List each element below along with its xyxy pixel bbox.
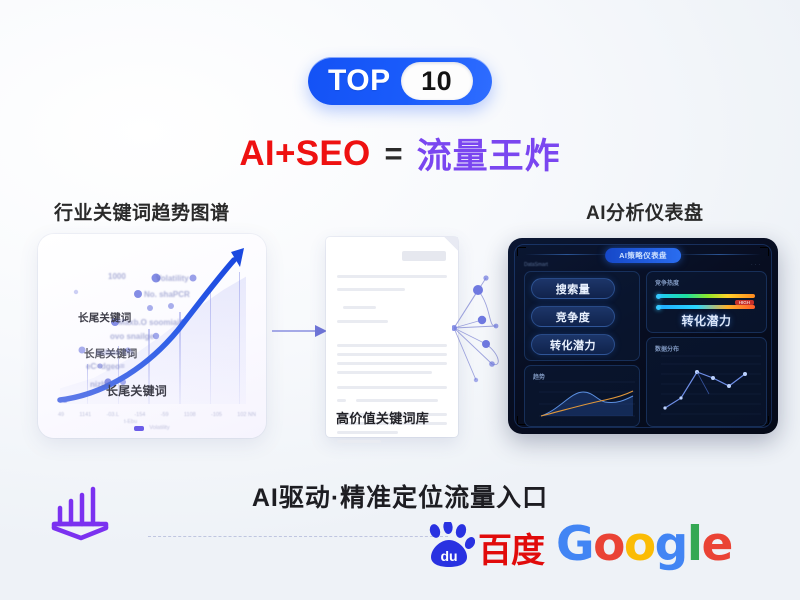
dashboard-title-badge: AI策略仪表盘: [605, 248, 681, 263]
top-badge-word: TOP: [328, 66, 391, 96]
flow-arrow-icon: [272, 322, 330, 340]
google-letter: o: [593, 521, 624, 568]
baidu-paw-icon: du: [425, 522, 475, 568]
legend-swatch: [134, 426, 144, 431]
corner-bracket-icon: [760, 247, 769, 256]
google-letter: g: [655, 521, 687, 568]
top-ranking-badge: TOP 10: [308, 57, 492, 105]
blur-label-6: eC=dgeo=: [86, 362, 125, 371]
page-title: AI+SEO = 流量王炸: [0, 128, 800, 179]
blur-label-5: eubuo Oh: [96, 348, 133, 357]
google-letter: l: [687, 521, 702, 568]
distribution-chart-panel: 数据分布: [646, 337, 767, 427]
baidu-logo: du 百度: [425, 522, 544, 568]
metric-button-competition[interactable]: 竞争度: [531, 306, 615, 327]
baidu-logo-text: 百度: [478, 535, 544, 567]
axis-tick: -154: [134, 412, 145, 418]
google-letter: G: [556, 521, 593, 568]
gauge-bar-primary: [657, 294, 755, 298]
legend-label: Volatility: [149, 425, 169, 431]
blur-label-3: Maxb.O soomiai: [118, 318, 179, 327]
competition-gauge-panel: 竞争热度 HIGH 转化潜力: [646, 271, 767, 333]
trend-axis-ticks: 49 1141 -03.L -154 -59 1108 -105 102 NN: [58, 412, 256, 418]
axis-tick: 102 NN: [237, 412, 256, 418]
headline-equals: =: [385, 136, 403, 172]
axis-tick: -105: [211, 412, 222, 418]
footer-title: AI驱动·精准定位流量入口: [0, 478, 800, 514]
document-header-chip: [402, 251, 446, 261]
google-logo: G o o g l e: [556, 521, 732, 568]
ai-dashboard-panel: AI策略仪表盘 DataSmart ··· 搜索量 竞争度 转化潜力 趋势: [508, 238, 778, 434]
area-chart-panel: 趋势: [524, 365, 640, 427]
top-badge-number-chip: 10: [401, 62, 473, 100]
gauge-panel-title: 竞争热度: [655, 278, 679, 287]
keyword-library-document: 高价值关键词库: [326, 237, 458, 437]
line-chart: [647, 338, 768, 428]
top-badge-number: 10: [421, 68, 452, 95]
area-chart: [525, 366, 641, 428]
gauge-status-tag: HIGH: [735, 300, 754, 305]
axis-tick: -03.L: [107, 412, 120, 418]
axis-tick: -59: [161, 412, 169, 418]
left-section-caption: 行业关键词趋势图谱: [54, 198, 230, 225]
slide-canvas: TOP 10 AI+SEO = 流量王炸 行业关键词趋势图谱 AI分析仪表盘: [0, 0, 800, 600]
dashboard-menu-icon[interactable]: ···: [751, 262, 762, 268]
google-letter: o: [624, 521, 655, 568]
dashboard-screen: AI策略仪表盘 DataSmart ··· 搜索量 竞争度 转化潜力 趋势: [514, 244, 772, 428]
gauge-marker-icon: [656, 305, 661, 310]
blur-label-2: No. shaPCR: [144, 290, 190, 299]
partner-logos: du 百度 G o o g l e: [425, 521, 732, 568]
right-section-caption: AI分析仪表盘: [586, 198, 704, 225]
axis-tick: 1108: [184, 412, 196, 418]
headline-left: AI+SEO: [239, 134, 370, 174]
keyword-network-graph: [452, 268, 514, 388]
metric-button-conversion[interactable]: 转化潜力: [531, 334, 615, 355]
axis-tick: 1141: [79, 412, 91, 418]
blur-label-1: Volatility: [156, 274, 189, 283]
headline-right: 流量王炸: [417, 128, 561, 179]
blur-label-8: 1000: [108, 272, 126, 281]
footer-dashed-divider: [148, 536, 448, 537]
svg-text:du: du: [440, 548, 457, 564]
axis-tick: 49: [58, 412, 64, 418]
google-letter: e: [701, 521, 731, 568]
dashboard-subtitle: DataSmart: [524, 262, 548, 268]
keyword-trend-card: 长尾关键词 长尾关键词 长尾关键词 Volatility No. shaPCR …: [38, 234, 266, 438]
keyword-label-3: 长尾关键词: [106, 382, 167, 399]
trend-legend: Volatility: [38, 425, 266, 431]
gauge-caption: 转化潜力: [647, 312, 766, 329]
document-title: 高价值关键词库: [336, 408, 429, 427]
blur-label-7: nizb=: [90, 380, 111, 389]
metric-button-search-volume[interactable]: 搜索量: [531, 278, 615, 299]
blur-label-4: ovo snailge: [110, 332, 154, 341]
gauge-marker-icon: [656, 294, 661, 299]
gauge-bar-secondary: [657, 305, 755, 309]
